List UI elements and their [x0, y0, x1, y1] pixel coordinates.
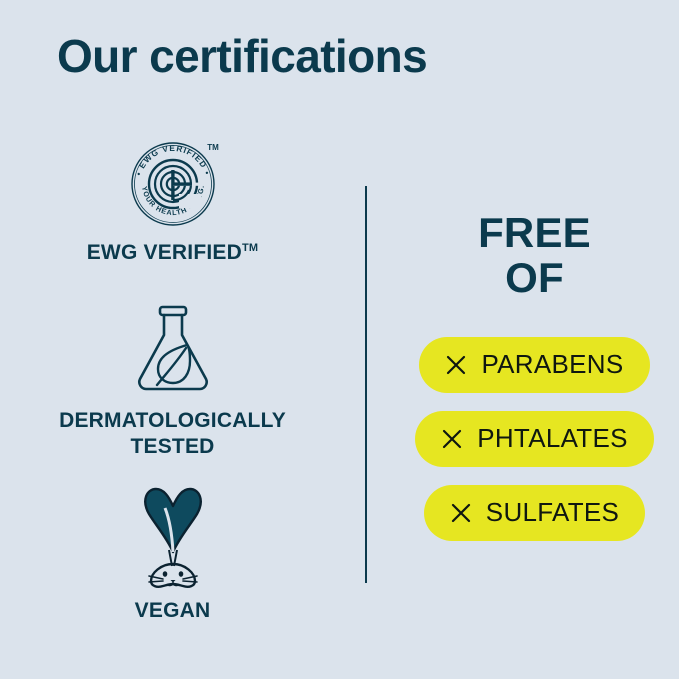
- free-of-pill-sulfates: SULFATES: [424, 485, 645, 541]
- free-of-section: FREE OF PARABENS PHTALATES: [390, 210, 679, 541]
- free-of-pill-phtalates: PHTALATES: [415, 411, 654, 467]
- flask-leaf-icon: [0, 298, 345, 398]
- x-icon: [445, 354, 467, 376]
- certification-item-vegan: VEGAN: [0, 488, 345, 624]
- svg-text:TM: TM: [207, 143, 219, 152]
- certification-item-dermatologically-tested: DERMATOLOGICALLY TESTED: [0, 298, 345, 459]
- free-of-pill-label: PHTALATES: [477, 423, 628, 454]
- certifications-infographic: Our certifications • EWG VERIFIED •: [0, 0, 679, 679]
- certification-label-dermatologically-tested: DERMATOLOGICALLY TESTED: [0, 408, 345, 459]
- free-of-title: FREE OF: [390, 210, 679, 301]
- bunny-heart-ears-icon: [0, 488, 345, 588]
- free-of-pill-parabens: PARABENS: [419, 337, 649, 393]
- certification-label-text: EWG VERIFIED: [87, 241, 242, 264]
- certification-item-ewg-verified: • EWG VERIFIED • FOR YOUR HEALTH • EWG.O…: [0, 130, 345, 266]
- free-of-pill-label: SULFATES: [486, 497, 619, 528]
- certification-label-ewg-verified: EWG VERIFIEDTM: [0, 240, 345, 266]
- trademark-symbol: TM: [242, 242, 258, 254]
- free-of-title-line2: OF: [390, 255, 679, 300]
- certification-label-line2: TESTED: [0, 434, 345, 460]
- x-icon: [450, 502, 472, 524]
- x-icon: [441, 428, 463, 450]
- free-of-pill-label: PARABENS: [481, 349, 623, 380]
- ewg-verified-seal-icon: • EWG VERIFIED • FOR YOUR HEALTH • EWG.O…: [0, 130, 345, 230]
- free-of-title-line1: FREE: [390, 210, 679, 255]
- page-title: Our certifications: [57, 31, 427, 82]
- vertical-divider: [365, 186, 367, 583]
- certification-label-line1: DERMATOLOGICALLY: [0, 408, 345, 434]
- free-of-pill-list: PARABENS PHTALATES SULFATES: [390, 337, 679, 541]
- certification-label-vegan: VEGAN: [0, 598, 345, 624]
